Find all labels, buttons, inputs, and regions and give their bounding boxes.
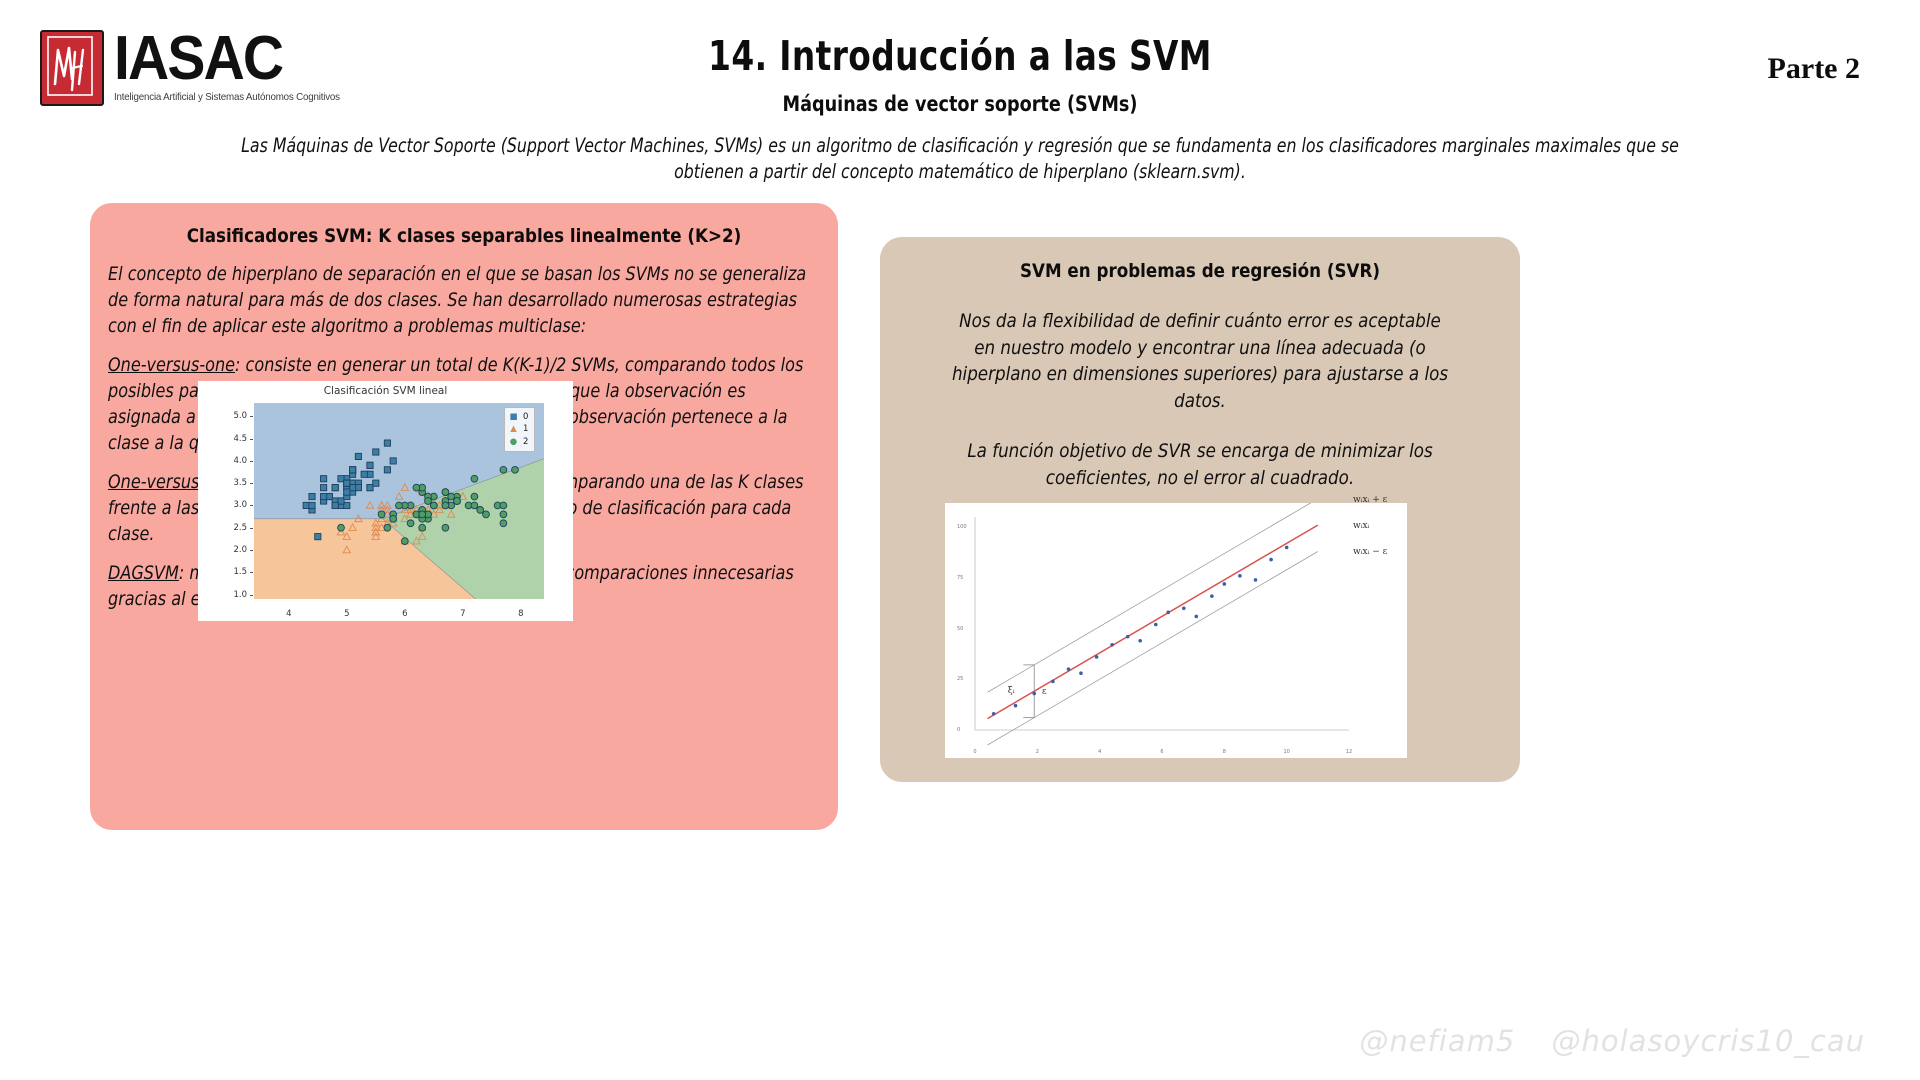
data-point-class-2 xyxy=(471,475,478,482)
x-axis-tick: 2 xyxy=(1036,749,1039,755)
y-axis-tick-mark xyxy=(250,572,253,573)
signature-mh-icon xyxy=(42,32,98,100)
data-point-class-2 xyxy=(419,511,426,518)
data-point-class-0 xyxy=(350,485,356,491)
page-title: 14. Introducción a las SVM xyxy=(192,32,1728,80)
data-point xyxy=(1095,655,1099,659)
data-point-class-2 xyxy=(442,489,449,496)
y-axis-tick: 25 xyxy=(957,676,963,682)
data-point-class-0 xyxy=(344,502,350,508)
data-point-class-0 xyxy=(344,480,350,486)
data-point-class-0 xyxy=(332,502,338,508)
data-point-class-2 xyxy=(471,493,478,500)
footer-social-handles: @nefiam5 @holasoycris10_cau xyxy=(1359,1024,1865,1058)
y-axis-tick-mark xyxy=(250,483,253,484)
term-dagsvm: DAGSVM xyxy=(108,562,179,584)
data-point xyxy=(1110,643,1114,647)
data-point-class-2 xyxy=(384,524,391,531)
intro-paragraph: Las Máquinas de Vector Soporte (Support … xyxy=(239,133,1681,185)
upper-margin-line xyxy=(987,503,1317,692)
data-point xyxy=(1126,635,1130,639)
paragraph-intro-multiclass: El concepto de hiperplano de separación … xyxy=(108,261,818,339)
x-axis-tick: 4 xyxy=(1098,749,1101,755)
data-point xyxy=(1154,623,1158,627)
data-point-class-2 xyxy=(378,511,385,518)
paragraph-text: El concepto de hiperplano de separación … xyxy=(108,263,806,337)
legend-item-2: ●2 xyxy=(509,436,528,448)
panel-svr-body: Nos da la flexibilidad de definir cuánto… xyxy=(918,308,1481,492)
y-axis-tick: 5.0 xyxy=(233,411,247,421)
data-point xyxy=(1223,582,1227,586)
data-point-class-0 xyxy=(309,502,315,508)
data-point-class-0 xyxy=(315,534,321,540)
data-point-class-2 xyxy=(396,502,403,509)
chart-regions-and-points xyxy=(254,403,544,599)
data-point-class-0 xyxy=(326,493,332,499)
y-axis-tick: 2.5 xyxy=(233,523,247,533)
data-point xyxy=(1079,671,1083,675)
x-axis-tick: 10 xyxy=(1283,749,1289,755)
y-axis-tick-mark xyxy=(250,461,253,462)
paragraph-svr-flexibility: Nos da la flexibilidad de definir cuánto… xyxy=(948,308,1451,414)
y-axis-tick-mark xyxy=(250,528,253,529)
data-point-class-2 xyxy=(477,507,484,514)
y-axis-tick: 3.0 xyxy=(233,500,247,510)
annotation-lower-bound: wᵢxᵢ − ε xyxy=(1353,547,1387,557)
x-axis-tick: 7 xyxy=(460,609,465,619)
data-point-class-2 xyxy=(407,520,414,527)
data-point-class-2 xyxy=(413,484,420,491)
data-point-class-0 xyxy=(309,493,315,499)
data-point xyxy=(1285,546,1289,550)
data-point-class-0 xyxy=(332,485,338,491)
data-point-class-0 xyxy=(355,485,361,491)
legend-item-1: ▲1 xyxy=(509,423,528,435)
data-point-class-2 xyxy=(401,538,408,545)
data-point-class-2 xyxy=(430,502,437,509)
lower-margin-line xyxy=(987,551,1317,745)
x-axis-tick: 8 xyxy=(518,609,523,619)
data-point-class-2 xyxy=(500,511,507,518)
data-point-class-2 xyxy=(390,515,397,522)
chart-title: Clasificación SVM lineal xyxy=(198,381,573,397)
data-point xyxy=(1238,574,1242,578)
y-axis-tick: 3.5 xyxy=(233,478,247,488)
data-point-class-0 xyxy=(350,467,356,473)
x-axis-tick: 6 xyxy=(1160,749,1163,755)
data-point-class-2 xyxy=(512,466,519,473)
paragraph-svr-objective: La función objetivo de SVR se encarga de… xyxy=(948,438,1451,491)
data-point-class-2 xyxy=(500,502,507,509)
x-axis-tick: 8 xyxy=(1223,749,1226,755)
y-axis-tick-mark xyxy=(250,595,253,596)
y-axis-tick: 0 xyxy=(957,727,960,733)
data-point xyxy=(1032,692,1036,696)
y-axis-tick-mark xyxy=(250,416,253,417)
chart-plot-area: wᵢxᵢ + εwᵢxᵢwᵢxᵢ − εξᵢε02550751000246810… xyxy=(945,503,1407,758)
data-point-class-0 xyxy=(384,467,390,473)
data-point-class-0 xyxy=(367,471,373,477)
page-subtitle: Máquinas de vector soporte (SVMs) xyxy=(154,92,1767,116)
x-axis-tick: 4 xyxy=(286,609,291,619)
data-point-class-0 xyxy=(344,489,350,495)
part-label: Parte 2 xyxy=(1768,52,1860,86)
x-axis-tick: 12 xyxy=(1346,749,1352,755)
data-point-class-2 xyxy=(448,493,455,500)
data-point-class-0 xyxy=(321,493,327,499)
data-point-class-2 xyxy=(442,524,449,531)
chart-svm-classification: Clasificación SVM lineal 1.01.52.02.53.0… xyxy=(198,381,573,621)
data-point-class-0 xyxy=(361,471,367,477)
data-point-class-0 xyxy=(338,476,344,482)
y-axis-tick: 4.5 xyxy=(233,434,247,444)
term-one-versus-one: One-versus-one xyxy=(108,354,235,376)
y-axis-tick: 4.0 xyxy=(233,456,247,466)
data-point-class-2 xyxy=(454,498,461,505)
annotation-xi: ξᵢ xyxy=(1008,686,1015,696)
x-axis-tick: 0 xyxy=(973,749,976,755)
data-point-class-0 xyxy=(321,476,327,482)
handle-holasoycris10: @holasoycris10_cau xyxy=(1552,1024,1866,1058)
regression-line xyxy=(987,525,1317,719)
data-point xyxy=(1067,667,1071,671)
slide-root: IASAC Inteligencia Artificial y Sistemas… xyxy=(0,0,1920,1080)
legend-marker-icon: ■ xyxy=(509,411,518,423)
y-axis-tick: 1.0 xyxy=(233,590,247,600)
data-point-class-0 xyxy=(373,449,379,455)
data-point-class-0 xyxy=(303,502,309,508)
data-point xyxy=(1166,611,1170,615)
data-point-class-0 xyxy=(367,485,373,491)
data-point-class-2 xyxy=(500,466,507,473)
data-point-class-2 xyxy=(442,502,449,509)
annotation-epsilon: ε xyxy=(1042,687,1047,697)
y-axis-tick: 100 xyxy=(957,524,967,530)
data-point-class-0 xyxy=(373,480,379,486)
data-point-class-2 xyxy=(471,502,478,509)
panel-svm-multiclass-heading: Clasificadores SVM: K clases separables … xyxy=(135,203,793,247)
y-axis-tick: 2.0 xyxy=(233,545,247,555)
data-point xyxy=(992,712,996,716)
handle-nefiam5: @nefiam5 xyxy=(1359,1024,1515,1058)
legend-marker-icon: ● xyxy=(509,436,518,448)
iasac-logo-mark-icon xyxy=(40,30,104,106)
data-point xyxy=(1014,704,1018,708)
data-point-class-0 xyxy=(338,498,344,504)
annotation-upper-bound: wᵢxᵢ + ε xyxy=(1353,495,1387,505)
data-point-class-0 xyxy=(384,440,390,446)
data-point xyxy=(1269,558,1273,562)
chart-svr-regression: wᵢxᵢ + εwᵢxᵢwᵢxᵢ − εξᵢε02550751000246810… xyxy=(945,503,1407,758)
data-point xyxy=(1182,606,1186,610)
svr-plot xyxy=(945,503,1407,758)
data-point-class-0 xyxy=(390,458,396,464)
chart-legend: ■0▲1●2 xyxy=(504,407,535,452)
y-axis-tick-mark xyxy=(250,505,253,506)
x-axis-tick: 6 xyxy=(402,609,407,619)
chart-plot-area xyxy=(254,403,544,599)
legend-item-0: ■0 xyxy=(509,411,528,423)
data-point-class-0 xyxy=(367,462,373,468)
legend-label: 1 xyxy=(523,423,528,435)
legend-label: 0 xyxy=(523,411,528,423)
data-point xyxy=(1138,639,1142,643)
x-axis-tick: 5 xyxy=(344,609,349,619)
y-axis-tick: 75 xyxy=(957,575,963,581)
data-point-class-2 xyxy=(483,511,490,518)
y-axis-tick-mark xyxy=(250,550,253,551)
data-point-class-2 xyxy=(419,524,426,531)
data-point-class-2 xyxy=(338,524,345,531)
legend-label: 2 xyxy=(523,436,528,448)
y-axis-tick-mark xyxy=(250,439,253,440)
panel-svr-heading: SVM en problemas de regresión (SVR) xyxy=(918,237,1481,282)
y-axis-tick: 1.5 xyxy=(233,567,247,577)
data-point xyxy=(1254,578,1258,582)
data-point-class-2 xyxy=(425,498,432,505)
annotation-regression-line: wᵢxᵢ xyxy=(1353,521,1369,531)
data-point-class-0 xyxy=(321,485,327,491)
data-point xyxy=(1194,615,1198,619)
data-point-class-2 xyxy=(500,520,507,527)
data-point xyxy=(1051,680,1055,684)
data-point xyxy=(1210,594,1214,598)
data-point-class-0 xyxy=(355,453,361,459)
legend-marker-icon: ▲ xyxy=(509,423,518,435)
y-axis-tick: 50 xyxy=(957,626,963,632)
